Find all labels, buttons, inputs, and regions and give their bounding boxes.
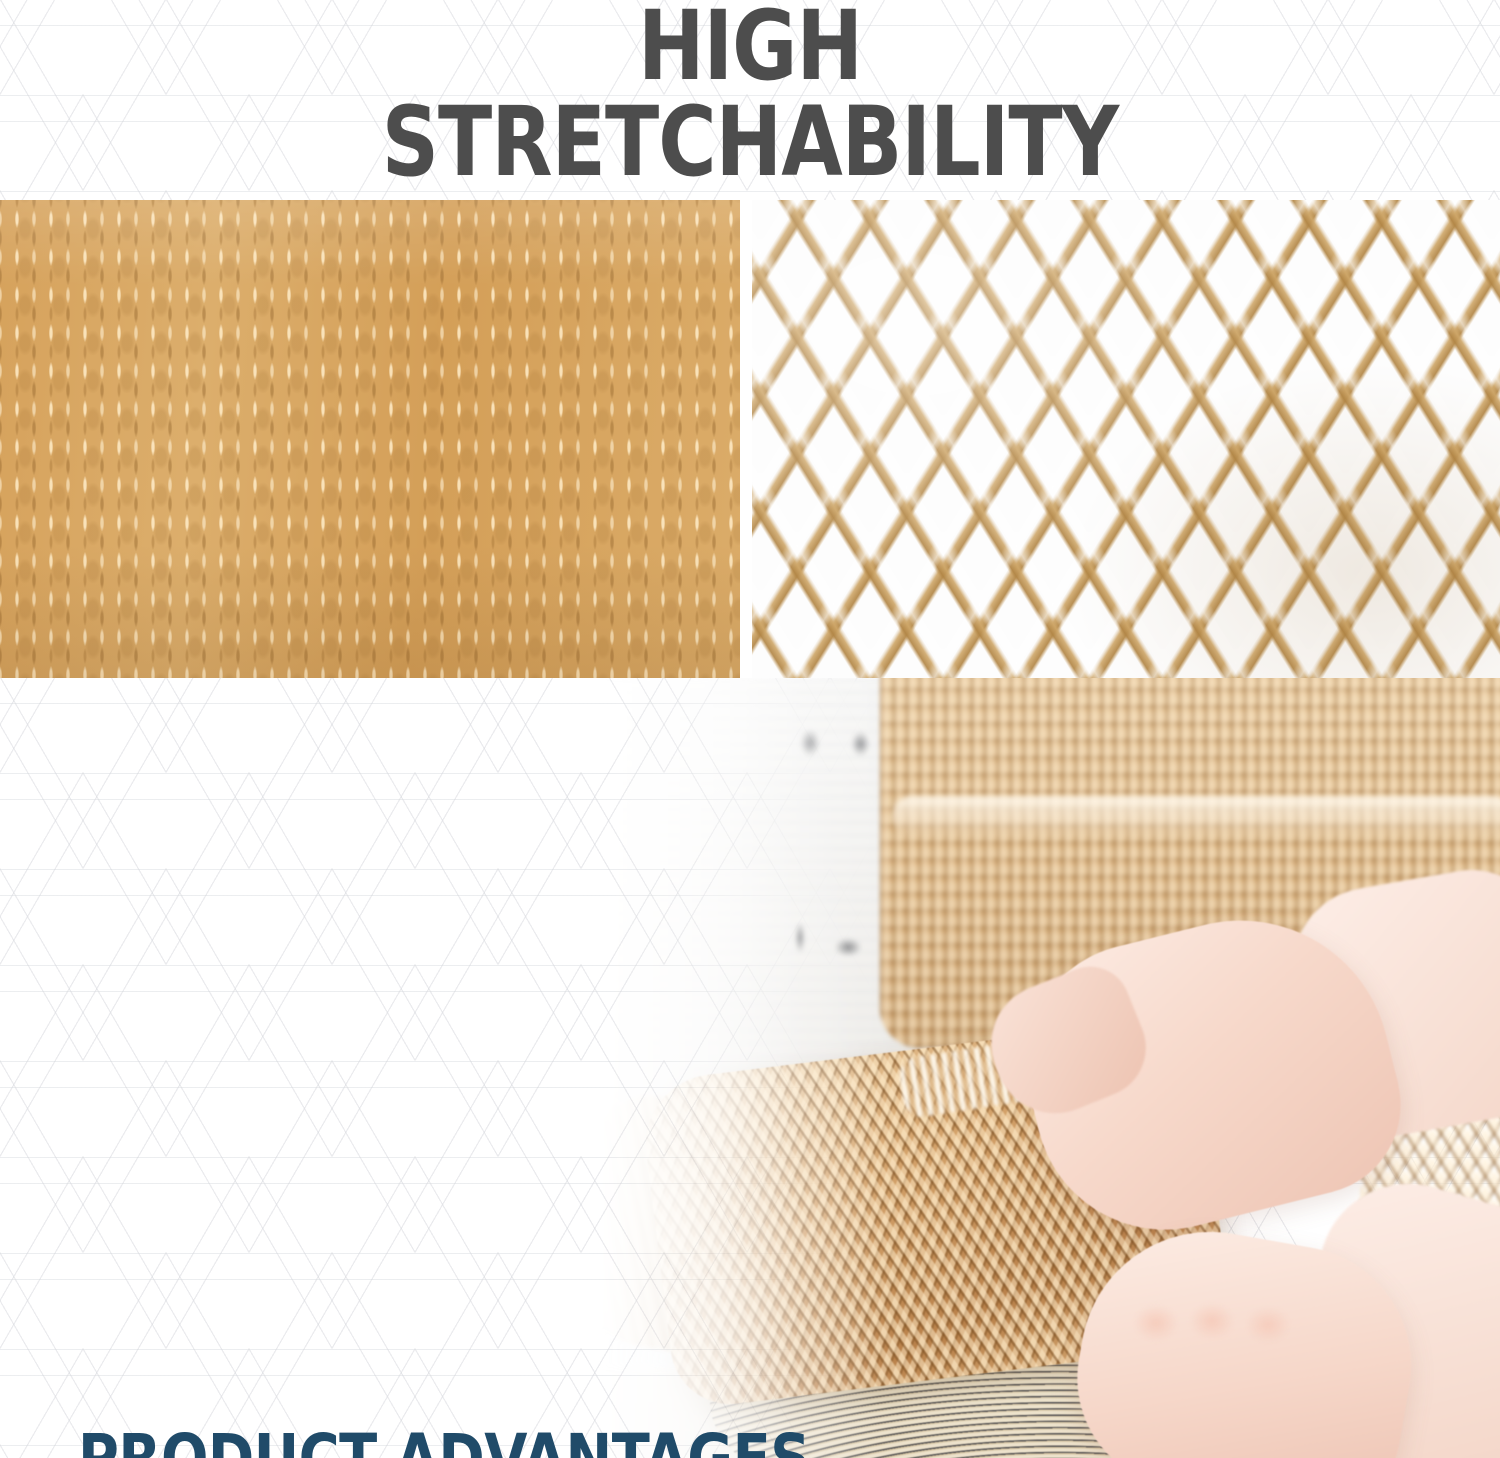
photo-left-fade [600, 678, 1500, 1458]
honeycomb-mesh-texture [752, 200, 1500, 678]
hands-stretching-honeycomb-paper-photo [600, 678, 1500, 1458]
kraft-flat-texture [0, 200, 740, 678]
kraft-flat-shading [0, 200, 740, 678]
honeycomb-mesh-lighting [752, 200, 1500, 678]
infographic-root: HIGH STRETCHABILITY [0, 0, 1500, 1458]
header-section: HIGH STRETCHABILITY [0, 0, 1500, 200]
advantages-section: PRODUCT ADVANTAGES Eco-Friendly [0, 678, 1500, 1458]
advantages-heading: PRODUCT ADVANTAGES [78, 1424, 810, 1458]
page-title: HIGH STRETCHABILITY [60, 0, 1440, 190]
stretched-honeycomb-panel [752, 200, 1500, 678]
comparison-strip [0, 200, 1500, 678]
unstretched-honeycomb-panel [0, 200, 740, 678]
